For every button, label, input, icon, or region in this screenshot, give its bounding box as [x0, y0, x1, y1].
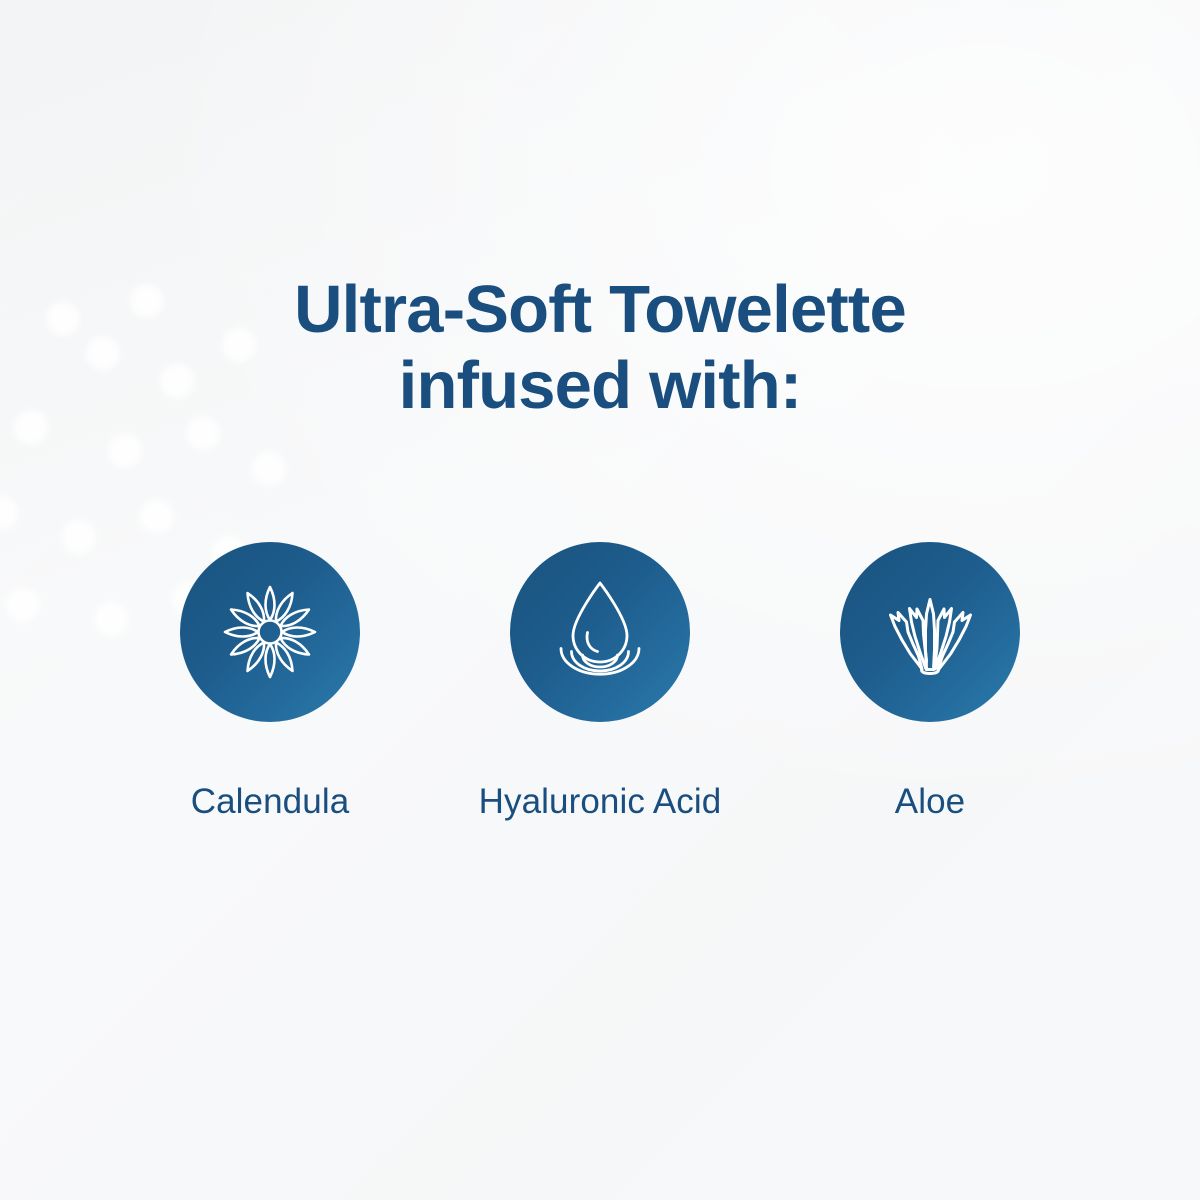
ingredient-item-hyaluronic-acid: Hyaluronic Acid: [435, 542, 765, 824]
icon-badge-calendula: [180, 542, 360, 722]
headline-line-2: infused with:: [0, 348, 1200, 424]
water-drop-icon: [538, 570, 662, 694]
icon-badge-hyaluronic-acid: [510, 542, 690, 722]
ingredient-label-calendula: Calendula: [191, 780, 350, 824]
ingredient-item-aloe: Aloe: [765, 542, 1095, 824]
ingredient-label-hyaluronic-acid: Hyaluronic Acid: [479, 780, 722, 824]
ingredient-label-aloe: Aloe: [895, 780, 965, 824]
flower-icon: [208, 570, 332, 694]
icon-badge-aloe: [840, 542, 1020, 722]
aloe-plant-icon: [868, 570, 992, 694]
ingredient-list: Calendula Hyaluronic: [105, 542, 1095, 824]
product-infographic: Ultra-Soft Towelette infused with:: [0, 0, 1200, 1200]
ingredient-item-calendula: Calendula: [105, 542, 435, 824]
headline-line-1: Ultra-Soft Towelette: [0, 272, 1200, 348]
headline: Ultra-Soft Towelette infused with:: [0, 272, 1200, 424]
